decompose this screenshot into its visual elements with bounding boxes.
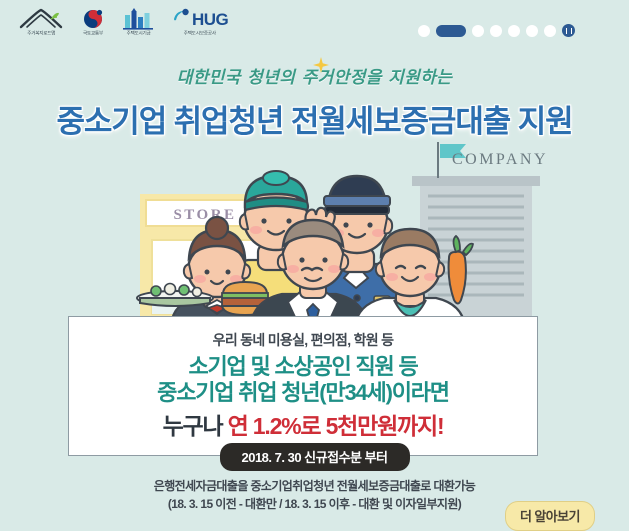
pager-dot-2-active[interactable]	[436, 25, 466, 37]
offer-rate-highlight: 연 1.2%로 5천만원까지!	[228, 413, 444, 439]
logo-caption: 주택도시기금	[127, 32, 151, 36]
logo-caption: 국토교통부	[83, 32, 103, 36]
logo-housing-welfare-roadmap: 주거복지로드맵	[18, 8, 64, 36]
hug-swoosh-icon	[172, 8, 190, 30]
pager-dot-7[interactable]	[544, 25, 556, 37]
logo-bar: 주거복지로드맵 국토교통부	[18, 8, 228, 36]
pager-dot-4[interactable]	[490, 25, 502, 37]
offer-card: 우리 동네 미용실, 편의점, 학원 등 소기업 및 소상공인 직원 등 중소기…	[68, 316, 538, 456]
logo-housing-urban-fund: 주택도시기금	[122, 8, 156, 36]
offer-line-1: 우리 동네 미용실, 편의점, 학원 등	[69, 330, 537, 350]
pager-dot-5[interactable]	[508, 25, 520, 37]
store-sign-text: STORE	[173, 207, 236, 223]
company-sign-text: COMPANY	[452, 151, 548, 168]
logo-ministry-of-land: 국토교통부	[80, 8, 106, 36]
logo-hug: HUG 주택도시보증공사	[172, 8, 228, 36]
star-icon	[311, 56, 331, 81]
footnote-line-1: 은행전세자금대출을 중소기업취업청년 전월세보증금대출로 대환가능	[0, 477, 629, 494]
fund-buildings-icon	[122, 8, 156, 30]
learn-more-button[interactable]: 더 알아보기	[505, 501, 595, 531]
pause-button[interactable]	[562, 24, 575, 37]
offer-line-4-prefix: 누구나	[163, 413, 228, 439]
offer-line-2: 소기업 및 소상공인 직원 등	[69, 355, 537, 380]
promo-banner: 주거복지로드맵 국토교통부	[0, 0, 629, 531]
pager-dot-3[interactable]	[472, 25, 484, 37]
roadmap-roof-icon	[18, 8, 64, 30]
offer-line-3: 중소기업 취업 청년(만34세)이라면	[69, 381, 537, 406]
page-title: 중소기업 취업청년 전월세보증금대출 지원	[0, 96, 629, 141]
logo-caption: 주거복지로드맵	[27, 32, 55, 36]
hug-wordmark: HUG	[192, 11, 228, 28]
offer-line-4: 누구나 연 1.2%로 5천만원까지!	[69, 407, 537, 441]
pause-icon	[566, 28, 572, 34]
illustration-workers: STORE COMPANY	[0, 132, 629, 332]
taegeuk-icon	[80, 8, 106, 30]
carousel-pagination[interactable]	[418, 24, 575, 37]
status-badge-start-date: 2018. 7. 30 신규접수분 부터	[219, 443, 409, 471]
hug-lockup: HUG	[172, 8, 228, 30]
pager-dot-6[interactable]	[526, 25, 538, 37]
pager-dot-1[interactable]	[418, 25, 430, 37]
logo-caption: 주택도시보증공사	[184, 32, 216, 36]
